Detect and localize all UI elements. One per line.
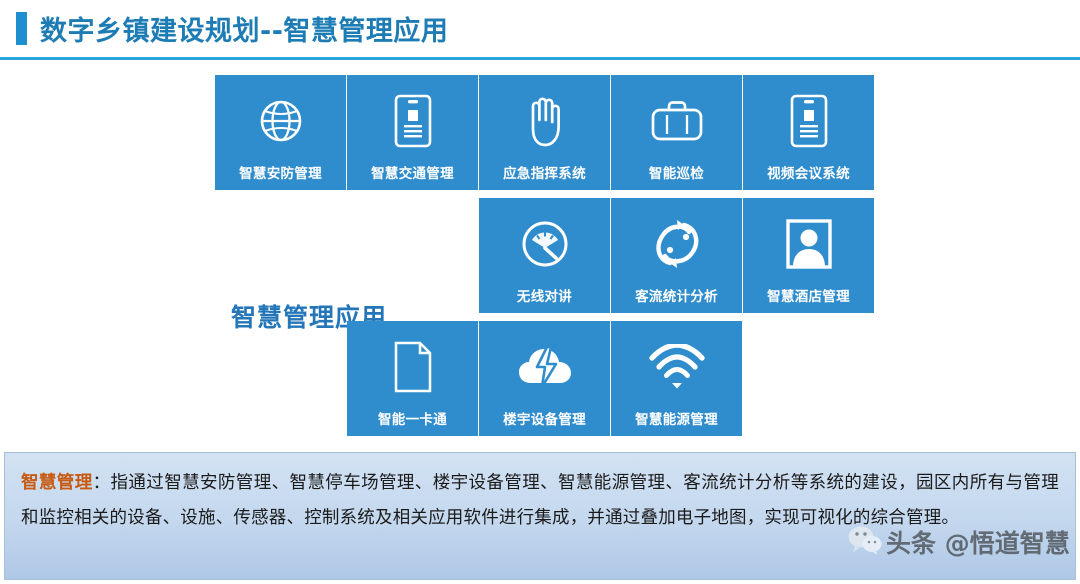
app-tile-label: 智慧能源管理: [635, 414, 718, 428]
app-tile[interactable]: 智能一卡通: [347, 321, 478, 436]
app-tile-label: 智慧交通管理: [371, 168, 454, 182]
description-text: 智慧管理：指通过智慧安防管理、智慧停车场管理、楼宇设备管理、智慧能源管理、客流统…: [21, 465, 1059, 534]
slide-header: 数字乡镇建设规划--智慧管理应用: [0, 0, 1080, 57]
app-tile-label: 智能一卡通: [378, 414, 447, 428]
description-panel: 智慧管理：指通过智慧安防管理、智慧停车场管理、楼宇设备管理、智慧能源管理、客流统…: [4, 452, 1076, 580]
hand-palm-icon: [479, 75, 610, 168]
gauge-icon: [479, 198, 610, 291]
app-tile[interactable]: 客流统计分析: [611, 198, 742, 313]
id-card-icon: [347, 75, 478, 168]
app-tile[interactable]: 视频会议系统: [743, 75, 874, 190]
app-tile[interactable]: 应急指挥系统: [479, 75, 610, 190]
app-tile[interactable]: 智慧交通管理: [347, 75, 478, 190]
person-portrait-icon: [743, 198, 874, 291]
app-tile[interactable]: 无线对讲: [479, 198, 610, 313]
cloud-lightning-icon: [479, 321, 610, 414]
app-tile[interactable]: 智慧能源管理: [611, 321, 742, 436]
app-tile-label: 无线对讲: [517, 291, 572, 305]
flow-arrows-icon: [611, 198, 742, 291]
title-accent-bar: [16, 12, 27, 45]
app-tile-label: 智慧酒店管理: [767, 291, 850, 305]
wifi-icon: [611, 321, 742, 414]
slide-page: 数字乡镇建设规划--智慧管理应用 智慧管理应用 智慧安防管理 智慧交通管理 应急…: [0, 0, 1080, 584]
globe-icon: [215, 75, 346, 168]
app-tile-label: 视频会议系统: [767, 168, 850, 182]
page-title: 数字乡镇建设规划--智慧管理应用: [40, 9, 448, 48]
app-tile[interactable]: 智能巡检: [611, 75, 742, 190]
app-tile-label: 智慧安防管理: [239, 168, 322, 182]
app-tile-label: 楼宇设备管理: [503, 414, 586, 428]
app-tile[interactable]: 楼宇设备管理: [479, 321, 610, 436]
description-term: 智慧管理: [21, 473, 93, 493]
description-body: ：指通过智慧安防管理、智慧停车场管理、楼宇设备管理、智慧能源管理、客流统计分析等…: [21, 472, 1059, 527]
id-card-icon: [743, 75, 874, 168]
app-tile-label: 智能巡检: [649, 168, 704, 182]
app-tile-label: 客流统计分析: [635, 291, 718, 305]
document-page-icon: [347, 321, 478, 414]
briefcase-icon: [611, 75, 742, 168]
app-tile[interactable]: 智慧安防管理: [215, 75, 346, 190]
app-tile[interactable]: 智慧酒店管理: [743, 198, 874, 313]
application-tile-grid: 智慧管理应用 智慧安防管理 智慧交通管理 应急指挥系统 智能巡检: [0, 60, 1080, 445]
app-tile-label: 应急指挥系统: [503, 168, 586, 182]
